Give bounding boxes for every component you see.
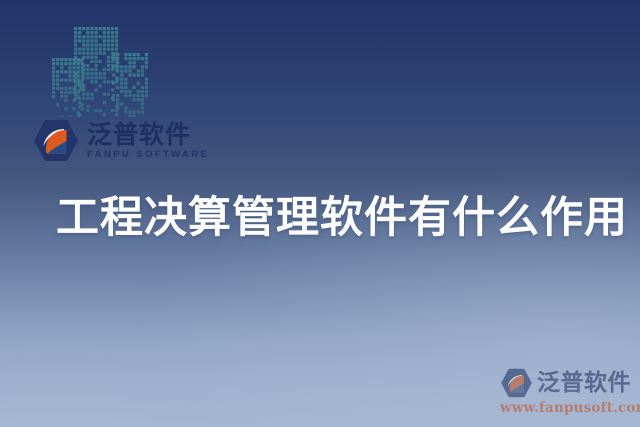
- fanpu-watermark-mark-icon: [500, 368, 533, 398]
- brand-logo: 泛普软件 FANPU SOFTWARE: [33, 119, 209, 162]
- headline-title: 工程决算管理软件有什么作用: [56, 192, 628, 244]
- watermark-name-cn: 泛普软件: [537, 372, 631, 395]
- pixel-skyline-decoration: [50, 25, 150, 117]
- watermark: 泛普软件 www.fanpusoft.com: [500, 368, 635, 416]
- pixel-skyline-svg: [50, 25, 150, 117]
- watermark-url: www.fanpusoft.com: [500, 400, 635, 416]
- watermark-logo-row: 泛普软件: [500, 368, 635, 398]
- brand-wordmark: 泛普软件 FANPU SOFTWARE: [87, 122, 209, 160]
- brand-name-en: FANPU SOFTWARE: [87, 150, 209, 160]
- fanpu-logo-mark-icon: [33, 119, 79, 162]
- brand-name-cn: 泛普软件: [87, 122, 209, 147]
- banner-canvas: 泛普软件 FANPU SOFTWARE 工程决算管理软件有什么作用 泛普软件 w…: [0, 0, 640, 427]
